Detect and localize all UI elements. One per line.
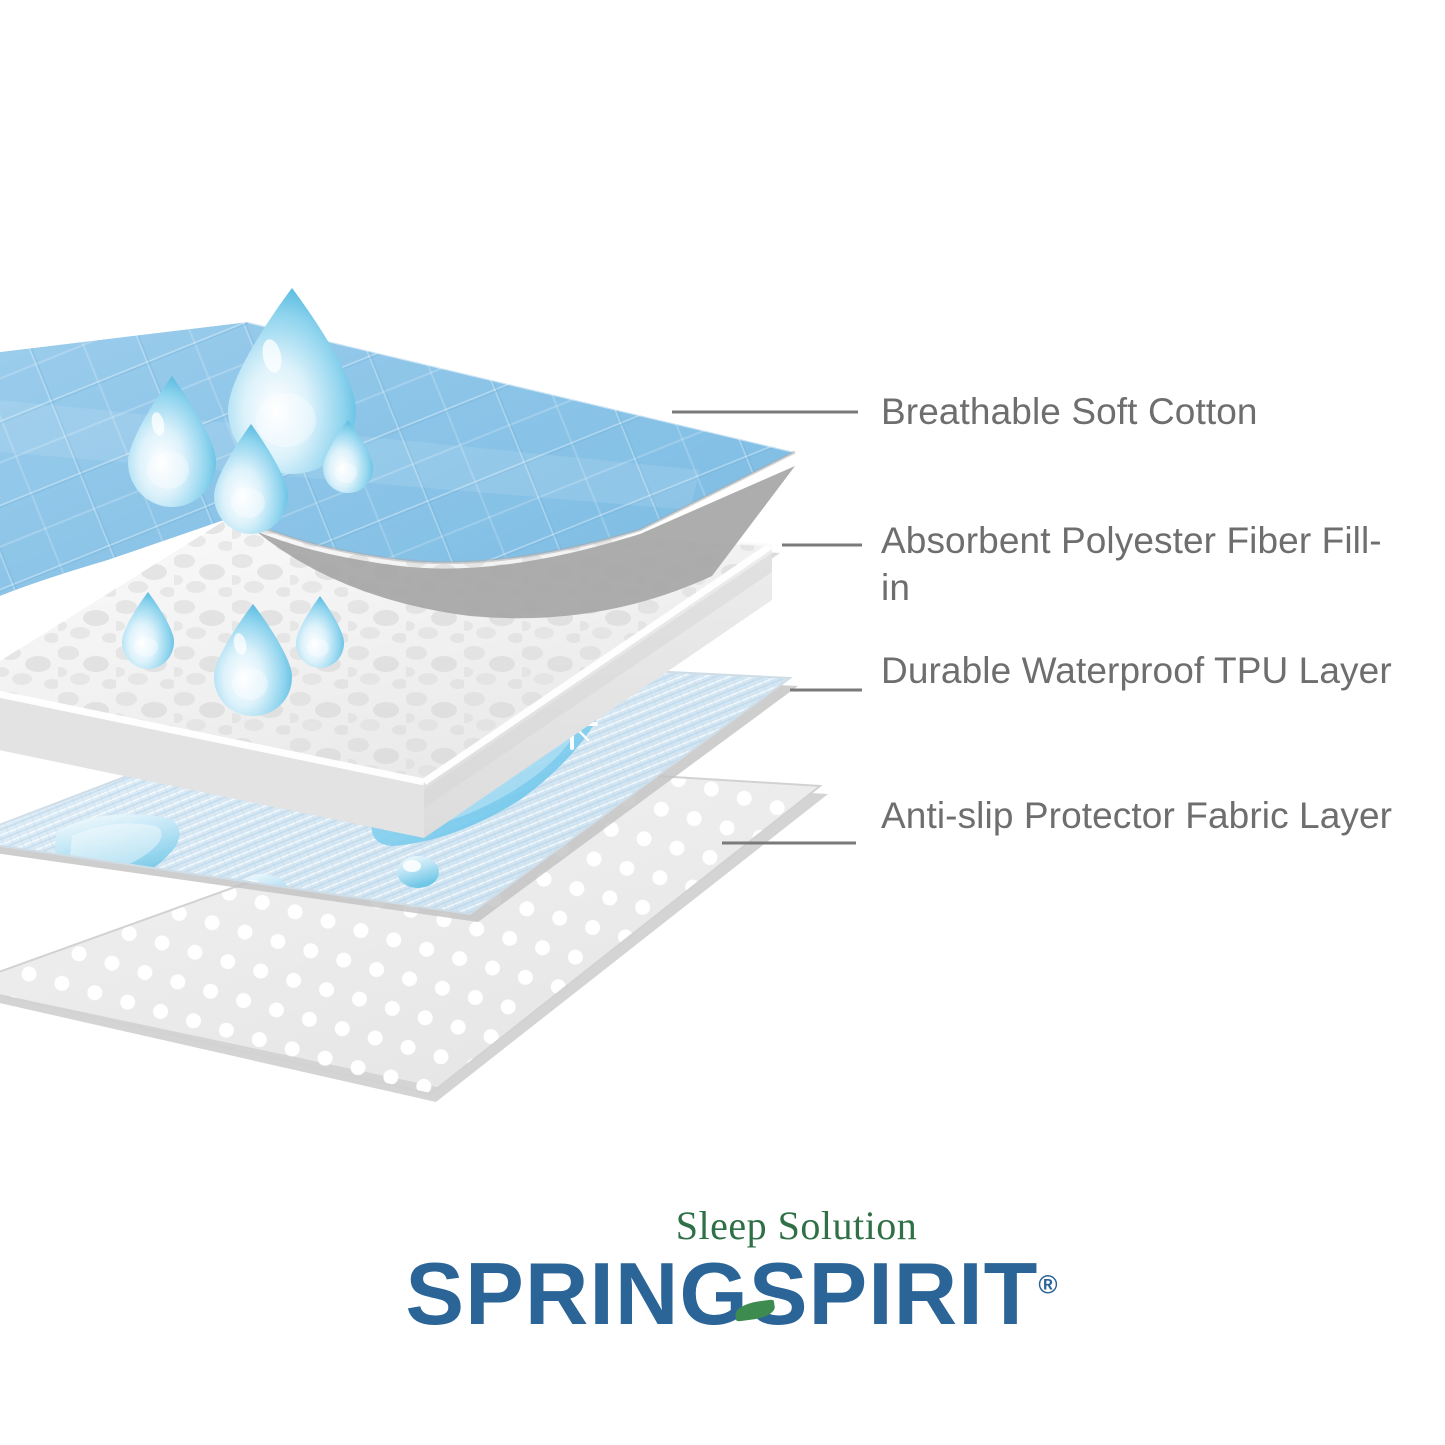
diagram-canvas: Breathable Soft Cotton Absorbent Polyest… (0, 0, 1445, 1445)
label-breathable-soft-cotton: Breathable Soft Cotton (881, 389, 1401, 436)
logo-wordmark-text: SPRINGSPIRIT (405, 1244, 1038, 1343)
label-durable-waterproof-tpu-layer: Durable Waterproof TPU Layer (881, 648, 1401, 695)
logo-wordmark: SPRINGSPIRIT® (405, 1250, 1057, 1338)
label-absorbent-polyester-fiber-fill-in: Absorbent Polyester Fiber Fill-in (881, 518, 1401, 612)
registered-trademark-icon: ® (1038, 1270, 1057, 1300)
brand-logo: Sleep Solution SPRINGSPIRIT® (0, 1206, 1445, 1338)
label-anti-slip-protector-fabric-layer: Anti-slip Protector Fabric Layer (881, 793, 1401, 840)
logo-tagline: Sleep Solution (148, 1206, 1445, 1246)
